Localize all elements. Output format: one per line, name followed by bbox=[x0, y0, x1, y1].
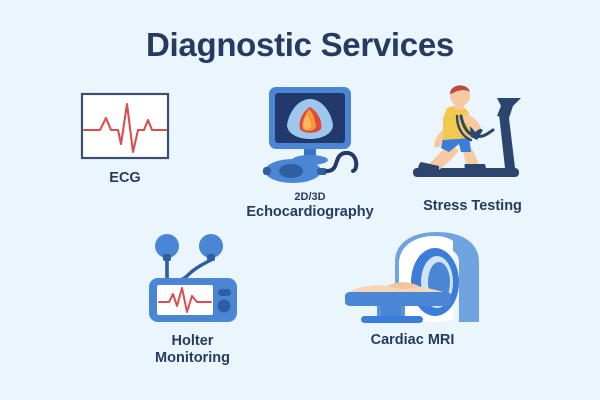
service-caption-line-cardiac-mri-0: Cardiac MRI bbox=[371, 332, 455, 349]
echocardiography-icon bbox=[245, 85, 375, 185]
service-caption-holter-monitoring: Holter Monitoring bbox=[155, 333, 230, 367]
service-caption-line-holter-monitoring-1: Monitoring bbox=[155, 350, 230, 367]
holter-monitor-icon bbox=[137, 232, 249, 327]
service-item-stress-testing[interactable]: Stress Testing bbox=[400, 82, 545, 215]
service-item-holter-monitoring[interactable]: Holter Monitoring bbox=[120, 232, 265, 367]
service-caption-stress-testing: Stress Testing bbox=[423, 198, 522, 215]
ecg-monitor-icon bbox=[80, 92, 170, 164]
service-item-echocardiography[interactable]: 2D/3D Echocardiography bbox=[235, 85, 385, 221]
treadmill-runner-icon bbox=[405, 82, 540, 192]
service-caption-ecg: ECG bbox=[109, 170, 140, 187]
service-caption-cardiac-mri: Cardiac MRI bbox=[371, 332, 455, 349]
service-caption-line-holter-monitoring-0: Holter bbox=[155, 333, 230, 350]
service-caption-line-echocardiography-0: Echocardiography bbox=[246, 204, 373, 221]
service-caption-small-echocardiography: 2D/3D bbox=[246, 191, 373, 204]
service-caption-echocardiography: 2D/3D Echocardiography bbox=[246, 191, 373, 221]
service-caption-line-stress-testing-0: Stress Testing bbox=[423, 198, 522, 215]
page-title: Diagnostic Services bbox=[0, 26, 600, 64]
service-caption-line-ecg-0: ECG bbox=[109, 170, 140, 187]
service-item-cardiac-mri[interactable]: Cardiac MRI bbox=[330, 228, 495, 349]
diagnostic-services-poster: Diagnostic Services ECG bbox=[0, 0, 600, 400]
mri-scanner-icon bbox=[343, 228, 483, 326]
service-item-ecg[interactable]: ECG bbox=[55, 92, 195, 187]
